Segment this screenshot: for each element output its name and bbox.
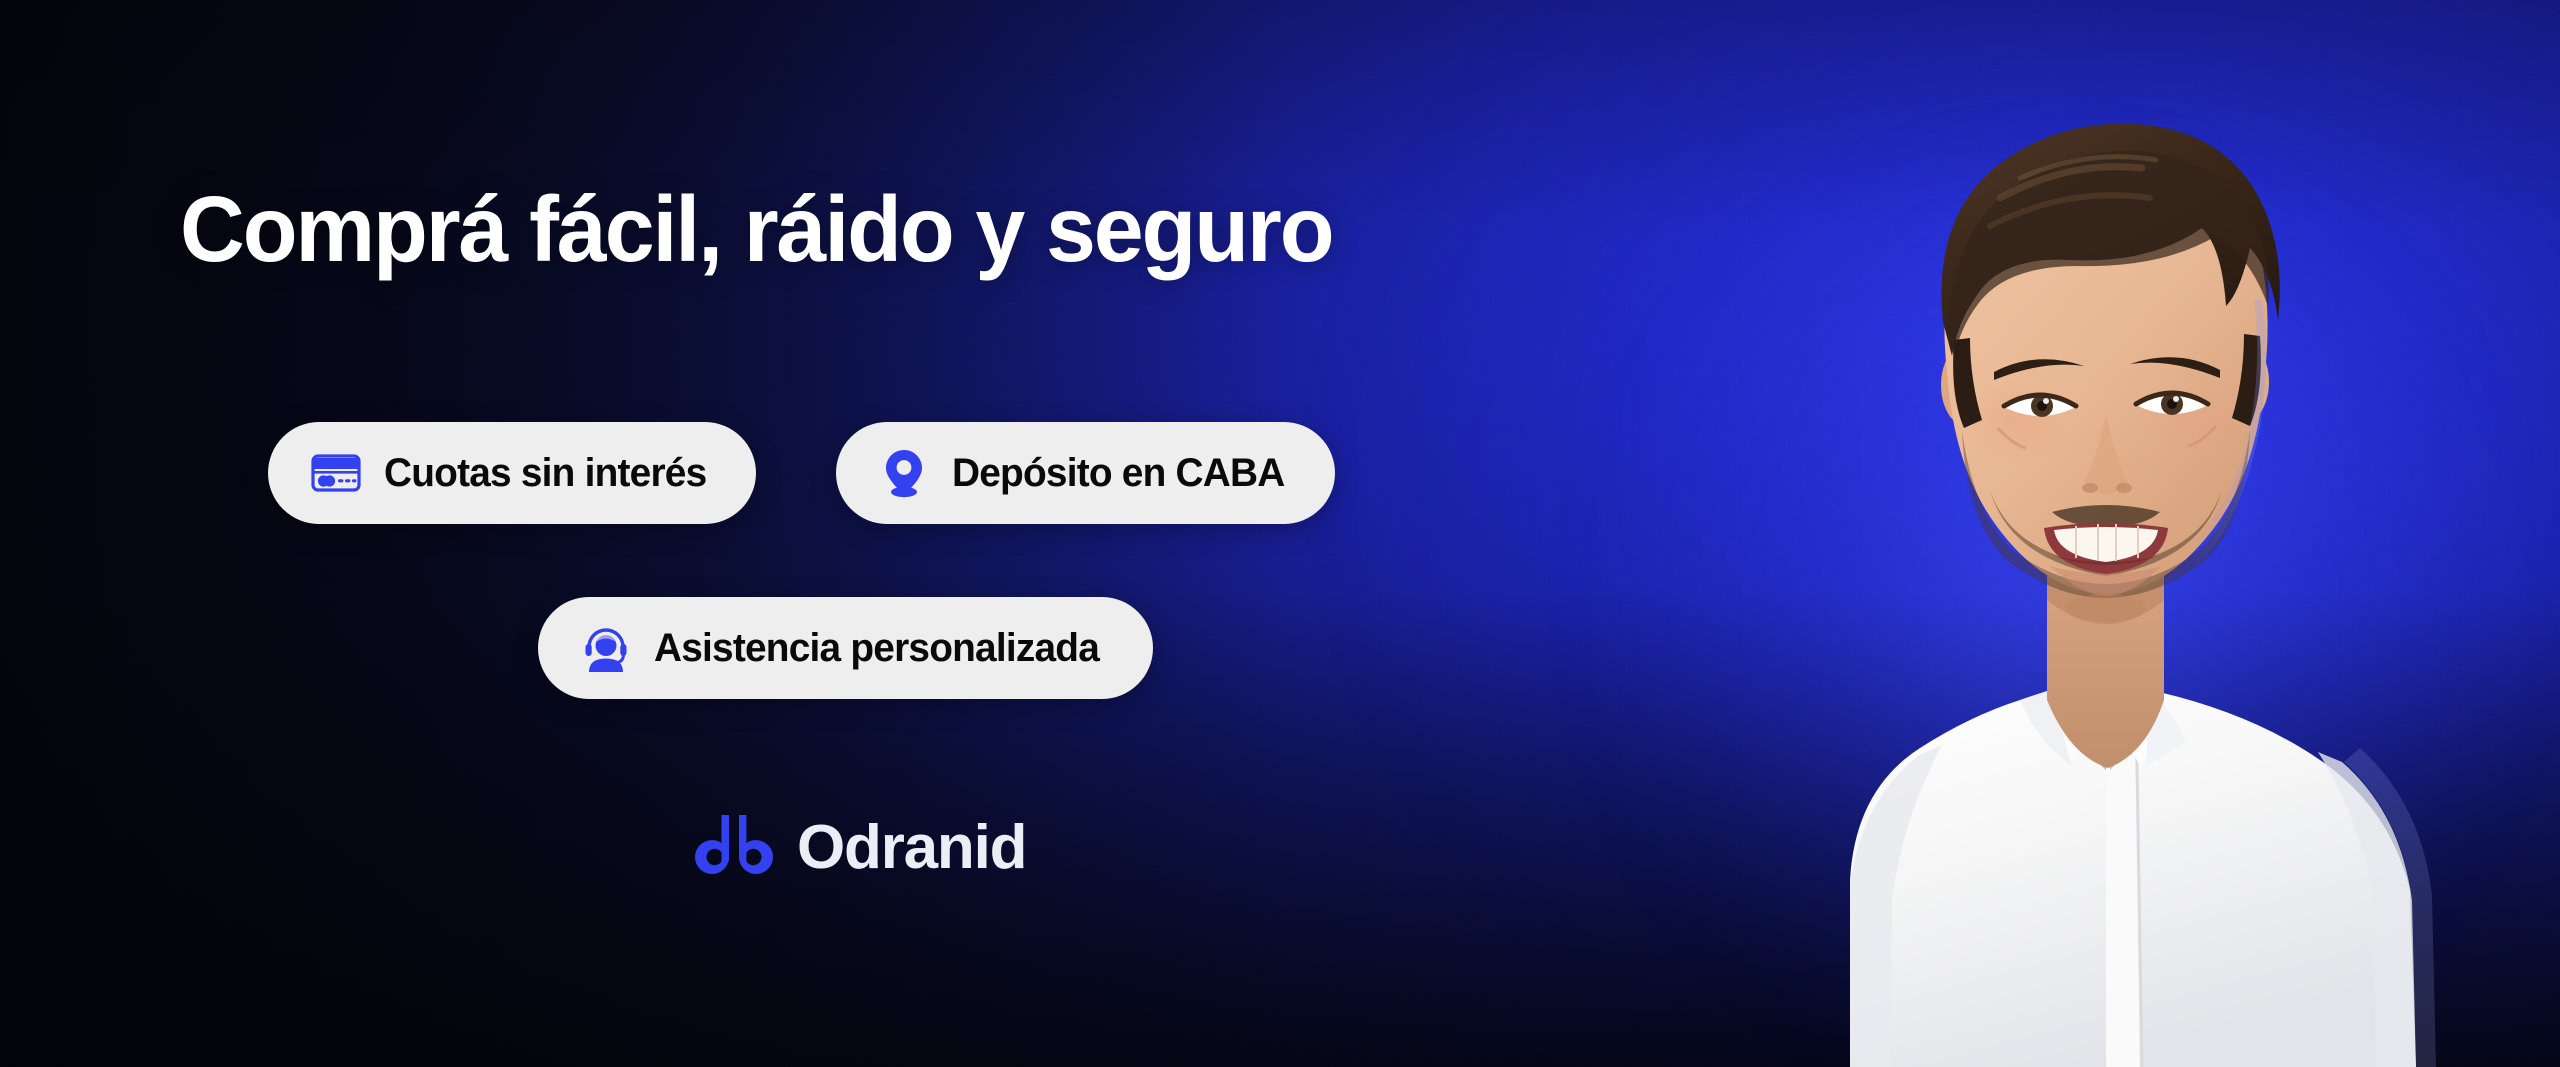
feature-pill-label: Asistencia personalizada — [654, 626, 1099, 671]
feature-pill-deposito[interactable]: Depósito en CABA — [836, 422, 1335, 524]
feature-pill-row-1: Cuotas sin interés Depósito en CABA — [268, 422, 1335, 524]
brand-wordmark: Odranid — [797, 812, 1026, 883]
support-agent-icon — [578, 620, 634, 676]
brand-logo[interactable]: Odranid — [693, 812, 1026, 883]
credit-card-icon — [308, 445, 364, 501]
feature-pill-cuotas[interactable]: Cuotas sin interés — [268, 422, 756, 524]
feature-pill-asistencia[interactable]: Asistencia personalizada — [538, 597, 1153, 699]
db-monogram-icon — [693, 813, 775, 883]
promo-banner: Comprá fácil, ráido y seguro — [0, 0, 2560, 1067]
location-pin-icon — [876, 445, 932, 501]
feature-pill-row-2: Asistencia personalizada — [538, 597, 1153, 699]
banner-content: Comprá fácil, ráido y seguro — [0, 0, 1640, 1067]
page-title: Comprá fácil, ráido y seguro — [180, 182, 1332, 277]
feature-pill-label: Depósito en CABA — [952, 451, 1284, 496]
feature-pill-label: Cuotas sin interés — [384, 451, 706, 496]
